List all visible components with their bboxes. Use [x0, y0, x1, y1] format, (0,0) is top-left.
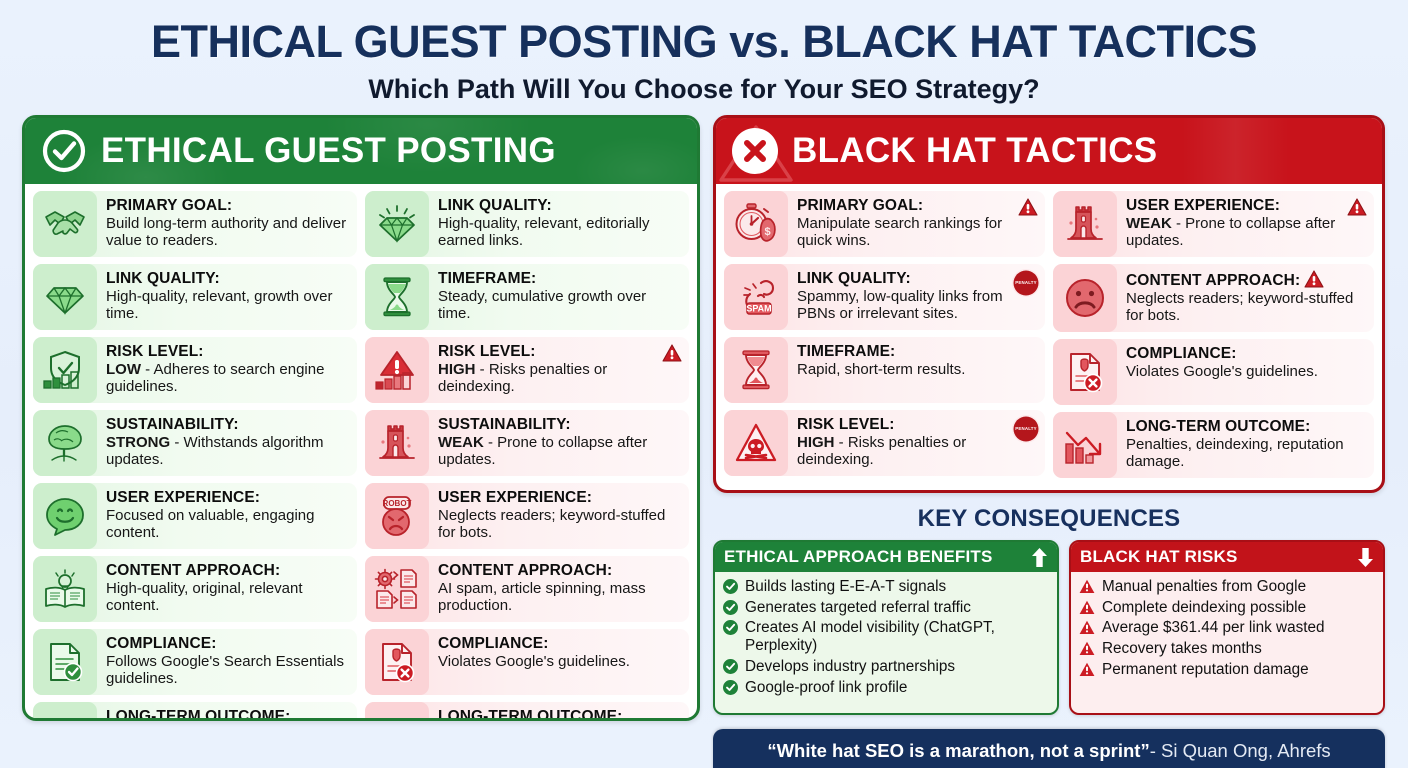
ethical-left-column: PRIMARY GOAL: Build long-term authority … — [33, 191, 357, 721]
comparison-row-text: PRIMARY GOAL: Manipulate search rankings… — [797, 191, 1045, 257]
document-check-icon — [33, 629, 97, 695]
svg-text:ROBOT: ROBOT — [383, 499, 412, 508]
comparison-row: RISK LEVEL: HIGH - Risks penalties or de… — [365, 337, 689, 403]
comparison-row: RISK LEVEL: HIGH - Risks penalties or de… — [724, 410, 1045, 476]
risk-item: Recovery takes months — [1079, 640, 1375, 658]
blackhat-panel-header: BLACK HAT TACTICS — [716, 118, 1382, 184]
black-hat-risks-heading: BLACK HAT RISKS — [1080, 547, 1238, 567]
comparison-row-text: CONTENT APPROACH: Neglects readers; keyw… — [1126, 264, 1374, 332]
ethical-benefits-heading: ETHICAL APPROACH BENEFITS — [724, 547, 993, 567]
comparison-row-text: LINK QUALITY: High-quality, relevant, gr… — [106, 264, 357, 330]
comparison-row-text: COMPLIANCE: Violates Google's guidelines… — [1126, 339, 1374, 405]
benefit-item: Generates targeted referral traffic — [723, 599, 1049, 617]
comparison-row-desc: High-quality, relevant, editorially earn… — [438, 215, 681, 249]
gear-documents-icon — [365, 556, 429, 622]
warning-triangle-icon — [1304, 270, 1324, 288]
comparison-row-desc: WEAK - Prone to collapse after updates. — [438, 434, 681, 468]
check-circle-icon — [723, 579, 738, 594]
comparison-row-desc: STRONG - Withstands algorithm updates. — [106, 434, 349, 468]
comparison-row-label: COMPLIANCE: — [438, 635, 681, 652]
risk-item-text: Manual penalties from Google — [1102, 578, 1306, 596]
benefit-item-text: Generates targeted referral traffic — [745, 599, 971, 617]
comparison-row-label: RISK LEVEL: — [106, 343, 349, 360]
comparison-row: CONTENT APPROACH: Neglects readers; keyw… — [1053, 264, 1374, 332]
comparison-row-text: USER EXPERIENCE: WEAK - Prone to collaps… — [1126, 191, 1374, 257]
stopwatch-money-icon: $ — [724, 191, 788, 257]
chart-down-icon — [365, 702, 429, 721]
warning-triangle-icon — [662, 344, 682, 362]
benefit-item: Creates AI model visibility (ChatGPT, Pe… — [723, 619, 1049, 654]
comparison-row-text: COMPLIANCE: Follows Google's Search Esse… — [106, 629, 357, 695]
comparison-row-text: COMPLIANCE: Violates Google's guidelines… — [438, 629, 689, 695]
comparison-row-text: CONTENT APPROACH: High-quality, original… — [106, 556, 357, 622]
ethical-guest-posting-panel: ETHICAL GUEST POSTING PRIMARY GOAL: Buil… — [22, 115, 700, 721]
comparison-row-text: TIMEFRAME: Steady, cumulative growth ove… — [438, 264, 689, 330]
comparison-row-desc: Neglects readers; keyword-stuffed for bo… — [1126, 290, 1366, 324]
ethical-panel-body: PRIMARY GOAL: Build long-term authority … — [25, 184, 697, 721]
comparison-row-label: SUSTAINABILITY: — [438, 416, 681, 433]
skull-warning-icon — [724, 410, 788, 476]
comparison-row-label: PRIMARY GOAL: — [106, 197, 349, 214]
comparison-row-label: CONTENT APPROACH: — [106, 562, 349, 579]
comparison-row: LINK QUALITY: High-quality, relevant, gr… — [33, 264, 357, 330]
risk-item-text: Permanent reputation damage — [1102, 661, 1309, 679]
benefit-item: Develops industry partnerships — [723, 658, 1049, 676]
risk-item: Permanent reputation damage — [1079, 661, 1375, 679]
comparison-row-desc: Violates Google's guidelines. — [1126, 363, 1366, 380]
comparison-row-label: CONTENT APPROACH: — [438, 562, 681, 579]
check-circle-icon — [723, 659, 738, 674]
benefit-item-text: Google-proof link profile — [745, 679, 907, 697]
comparison-row-desc: Manipulate search rankings for quick win… — [797, 215, 1037, 249]
blackhat-right-column: USER EXPERIENCE: WEAK - Prone to collaps… — [1053, 191, 1374, 478]
page-title: ETHICAL GUEST POSTING vs. BLACK HAT TACT… — [0, 16, 1408, 68]
comparison-row: TIMEFRAME: Steady, cumulative growth ove… — [365, 264, 689, 330]
comparison-row-desc: High-quality, original, relevant content… — [106, 580, 349, 614]
comparison-row-desc: AI spam, article spinning, mass producti… — [438, 580, 681, 614]
arrow-up-icon — [1031, 547, 1048, 568]
ethical-benefits-box: ETHICAL APPROACH BENEFITS Builds lasting… — [713, 540, 1059, 715]
ethical-right-column: LINK QUALITY: High-quality, relevant, ed… — [365, 191, 689, 721]
comparison-row-desc: Spammy, low-quality links from PBNs or i… — [797, 288, 1037, 322]
comparison-row: $ PRIMARY GOAL: Manipulate search rankin… — [724, 191, 1045, 257]
comparison-row: LONG-TERM OUTCOME: Penalties, deindexing… — [365, 702, 689, 721]
comparison-row: LONG-TERM OUTCOME: Penalties, deindexing… — [1053, 412, 1374, 478]
comparison-row-desc: WEAK - Prone to collapse after updates. — [1126, 215, 1366, 249]
comparison-row: LINK QUALITY: High-quality, relevant, ed… — [365, 191, 689, 257]
comparison-row-label: RISK LEVEL: — [438, 343, 681, 360]
comparison-row-text: LINK QUALITY: Spammy, low-quality links … — [797, 264, 1045, 330]
comparison-row: CONTENT APPROACH: AI spam, article spinn… — [365, 556, 689, 622]
comparison-row-text: RISK LEVEL: LOW - Adheres to search engi… — [106, 337, 357, 403]
comparison-row: COMPLIANCE: Follows Google's Search Esse… — [33, 629, 357, 695]
broken-chain-spam-icon: SPAM — [724, 264, 788, 330]
comparison-row-text: SUSTAINABILITY: STRONG - Withstands algo… — [106, 410, 357, 476]
comparison-row: SPAM LINK QUALITY: Spammy, low-quality l… — [724, 264, 1045, 330]
comparison-row: COMPLIANCE: Violates Google's guidelines… — [365, 629, 689, 695]
diamond-icon — [33, 264, 97, 330]
comparison-row-label: LONG-TERM OUTCOME: — [438, 708, 681, 721]
warning-triangle-icon — [1079, 620, 1095, 635]
page-subtitle: Which Path Will You Choose for Your SEO … — [0, 74, 1408, 105]
benefit-item-text: Creates AI model visibility (ChatGPT, Pe… — [745, 619, 1049, 654]
comparison-row: SUSTAINABILITY: WEAK - Prone to collapse… — [365, 410, 689, 476]
comparison-row-label: LINK QUALITY: — [797, 270, 1037, 287]
hourglass-red-icon — [724, 337, 788, 403]
ethical-benefits-header: ETHICAL APPROACH BENEFITS — [715, 542, 1057, 572]
document-x-icon — [1053, 339, 1117, 405]
quote-text: “White hat SEO is a marathon, not a spri… — [767, 740, 1149, 762]
comparison-row-label: CONTENT APPROACH: — [1126, 270, 1366, 289]
comparison-row-text: SUSTAINABILITY: WEAK - Prone to collapse… — [438, 410, 689, 476]
ethical-panel-header: ETHICAL GUEST POSTING — [25, 118, 697, 184]
comparison-row-label: USER EXPERIENCE: — [1126, 197, 1366, 214]
comparison-row: CONTENT APPROACH: High-quality, original… — [33, 556, 357, 622]
comparison-row: USER EXPERIENCE: Focused on valuable, en… — [33, 483, 357, 549]
comparison-row-desc: HIGH - Risks penalties or deindexing. — [438, 361, 681, 395]
benefit-item-text: Builds lasting E-E-A-T signals — [745, 578, 946, 596]
comparison-row-label: LONG-TERM OUTCOME: — [106, 708, 349, 721]
comparison-row-label: SUSTAINABILITY: — [106, 416, 349, 433]
diamond-sparkle-icon — [365, 191, 429, 257]
risk-item-text: Complete deindexing possible — [1102, 599, 1306, 617]
key-consequences-title: KEY CONSEQUENCES — [713, 505, 1385, 533]
black-hat-risks-box: BLACK HAT RISKS Manual penalties from Go… — [1069, 540, 1385, 715]
comparison-row-label: LINK QUALITY: — [106, 270, 349, 287]
stamp-badge-icon: PENALTY — [1015, 418, 1037, 440]
comparison-row-text: RISK LEVEL: HIGH - Risks penalties or de… — [438, 337, 689, 403]
chart-down-icon — [1053, 412, 1117, 478]
comparison-row-label: COMPLIANCE: — [106, 635, 349, 652]
hourglass-icon — [365, 264, 429, 330]
benefit-item: Builds lasting E-E-A-T signals — [723, 578, 1049, 596]
risk-item-text: Recovery takes months — [1102, 640, 1262, 658]
comparison-row-text: LONG-TERM OUTCOME: Penalties, deindexing… — [1126, 412, 1374, 478]
comparison-row: PRIMARY GOAL: Build long-term authority … — [33, 191, 357, 257]
warning-triangle-icon — [1079, 641, 1095, 656]
comparison-row-text: LONG-TERM OUTCOME: Lasting authority, br… — [106, 702, 357, 721]
warning-triangle-icon — [1079, 662, 1095, 677]
comparison-row-desc: Rapid, short-term results. — [797, 361, 1037, 378]
comparison-row-label: TIMEFRAME: — [797, 343, 1037, 360]
warning-triangle-icon — [1079, 579, 1095, 594]
comparison-row-label: LINK QUALITY: — [438, 197, 681, 214]
ethical-panel-title: ETHICAL GUEST POSTING — [101, 131, 556, 171]
shield-check-bars-icon — [33, 337, 97, 403]
svg-text:SPAM: SPAM — [746, 304, 771, 314]
arrow-down-icon — [1357, 547, 1374, 568]
warning-triangle-icon — [1018, 198, 1038, 216]
comparison-row-text: USER EXPERIENCE: Focused on valuable, en… — [106, 483, 357, 549]
risk-item: Manual penalties from Google — [1079, 578, 1375, 596]
check-circle-icon — [723, 680, 738, 695]
comparison-row: TIMEFRAME: Rapid, short-term results. — [724, 337, 1045, 403]
mountain-growth-icon — [33, 702, 97, 721]
risk-item: Average $361.44 per link wasted — [1079, 619, 1375, 637]
sad-face-icon — [1053, 264, 1117, 332]
comparison-row-desc: Violates Google's guidelines. — [438, 653, 681, 670]
comparison-row-text: USER EXPERIENCE: Neglects readers; keywo… — [438, 483, 689, 549]
tree-icon — [33, 410, 97, 476]
comparison-row-desc: Neglects readers; keyword-stuffed for bo… — [438, 507, 681, 541]
infographic-canvas: ETHICAL GUEST POSTING vs. BLACK HAT TACT… — [0, 0, 1408, 768]
comparison-row-label: RISK LEVEL: — [797, 416, 1037, 433]
comparison-row-desc: HIGH - Risks penalties or deindexing. — [797, 434, 1037, 468]
comparison-row-desc: Build long-term authority and deliver va… — [106, 215, 349, 249]
comparison-row-label: COMPLIANCE: — [1126, 345, 1366, 362]
black-hat-risks-header: BLACK HAT RISKS — [1071, 542, 1383, 572]
comparison-row: LONG-TERM OUTCOME: Lasting authority, br… — [33, 702, 357, 721]
comparison-row-desc: LOW - Adheres to search engine guideline… — [106, 361, 349, 395]
comparison-row: USER EXPERIENCE: WEAK - Prone to collaps… — [1053, 191, 1374, 257]
quote-bar: “White hat SEO is a marathon, not a spri… — [713, 729, 1385, 768]
benefit-item: Google-proof link profile — [723, 679, 1049, 697]
comparison-row-desc: Penalties, deindexing, reputation damage… — [1126, 436, 1366, 470]
svg-text:$: $ — [764, 226, 770, 238]
comparison-row-desc: Follows Google's Search Essentials guide… — [106, 653, 349, 687]
sandcastle-icon — [1053, 191, 1117, 257]
comparison-row-text: LINK QUALITY: High-quality, relevant, ed… — [438, 191, 689, 257]
quote-attribution: - Si Quan Ong, Ahrefs — [1150, 740, 1331, 762]
blackhat-left-column: $ PRIMARY GOAL: Manipulate search rankin… — [724, 191, 1045, 478]
comparison-row-text: RISK LEVEL: HIGH - Risks penalties or de… — [797, 410, 1045, 476]
comparison-row-text: PRIMARY GOAL: Build long-term authority … — [106, 191, 357, 257]
comparison-row-desc: High-quality, relevant, growth over time… — [106, 288, 349, 322]
check-circle-icon — [723, 600, 738, 615]
comparison-row-label: LONG-TERM OUTCOME: — [1126, 418, 1366, 435]
document-x-icon — [365, 629, 429, 695]
check-circle-icon — [41, 128, 87, 174]
comparison-row-text: TIMEFRAME: Rapid, short-term results. — [797, 337, 1045, 403]
comparison-row: SUSTAINABILITY: STRONG - Withstands algo… — [33, 410, 357, 476]
warning-triangle-icon — [1079, 600, 1095, 615]
blackhat-panel-title: BLACK HAT TACTICS — [792, 131, 1157, 171]
ethical-benefits-list: Builds lasting E-E-A-T signalsGenerates … — [715, 572, 1057, 703]
risk-item: Complete deindexing possible — [1079, 599, 1375, 617]
x-circle-icon — [732, 128, 778, 174]
risk-item-text: Average $361.44 per link wasted — [1102, 619, 1325, 637]
warning-triangle-icon — [1347, 198, 1367, 216]
black-hat-tactics-panel: BLACK HAT TACTICS $ PRIMARY GOAL: Manipu… — [713, 115, 1385, 493]
sandcastle-icon — [365, 410, 429, 476]
comparison-row: RISK LEVEL: LOW - Adheres to search engi… — [33, 337, 357, 403]
check-circle-icon — [723, 620, 738, 635]
stamp-badge-icon: PENALTY — [1015, 272, 1037, 294]
comparison-row: COMPLIANCE: Violates Google's guidelines… — [1053, 339, 1374, 405]
comparison-row-desc: Steady, cumulative growth over time. — [438, 288, 681, 322]
comparison-row-label: USER EXPERIENCE: — [438, 489, 681, 506]
comparison-row-text: CONTENT APPROACH: AI spam, article spinn… — [438, 556, 689, 622]
comparison-row-label: USER EXPERIENCE: — [106, 489, 349, 506]
robot-sad-icon: ROBOT — [365, 483, 429, 549]
warning-bars-icon — [365, 337, 429, 403]
comparison-row-text: LONG-TERM OUTCOME: Penalties, deindexing… — [438, 702, 689, 721]
smiley-chat-icon — [33, 483, 97, 549]
book-lightbulb-icon — [33, 556, 97, 622]
black-hat-risks-list: Manual penalties from GoogleComplete dei… — [1071, 572, 1383, 686]
blackhat-panel-body: $ PRIMARY GOAL: Manipulate search rankin… — [716, 184, 1382, 486]
benefit-item-text: Develops industry partnerships — [745, 658, 955, 676]
handshake-icon — [33, 191, 97, 257]
comparison-row: ROBOT USER EXPERIENCE: Neglects readers;… — [365, 483, 689, 549]
comparison-row-label: PRIMARY GOAL: — [797, 197, 1037, 214]
comparison-row-desc: Focused on valuable, engaging content. — [106, 507, 349, 541]
comparison-row-label: TIMEFRAME: — [438, 270, 681, 287]
